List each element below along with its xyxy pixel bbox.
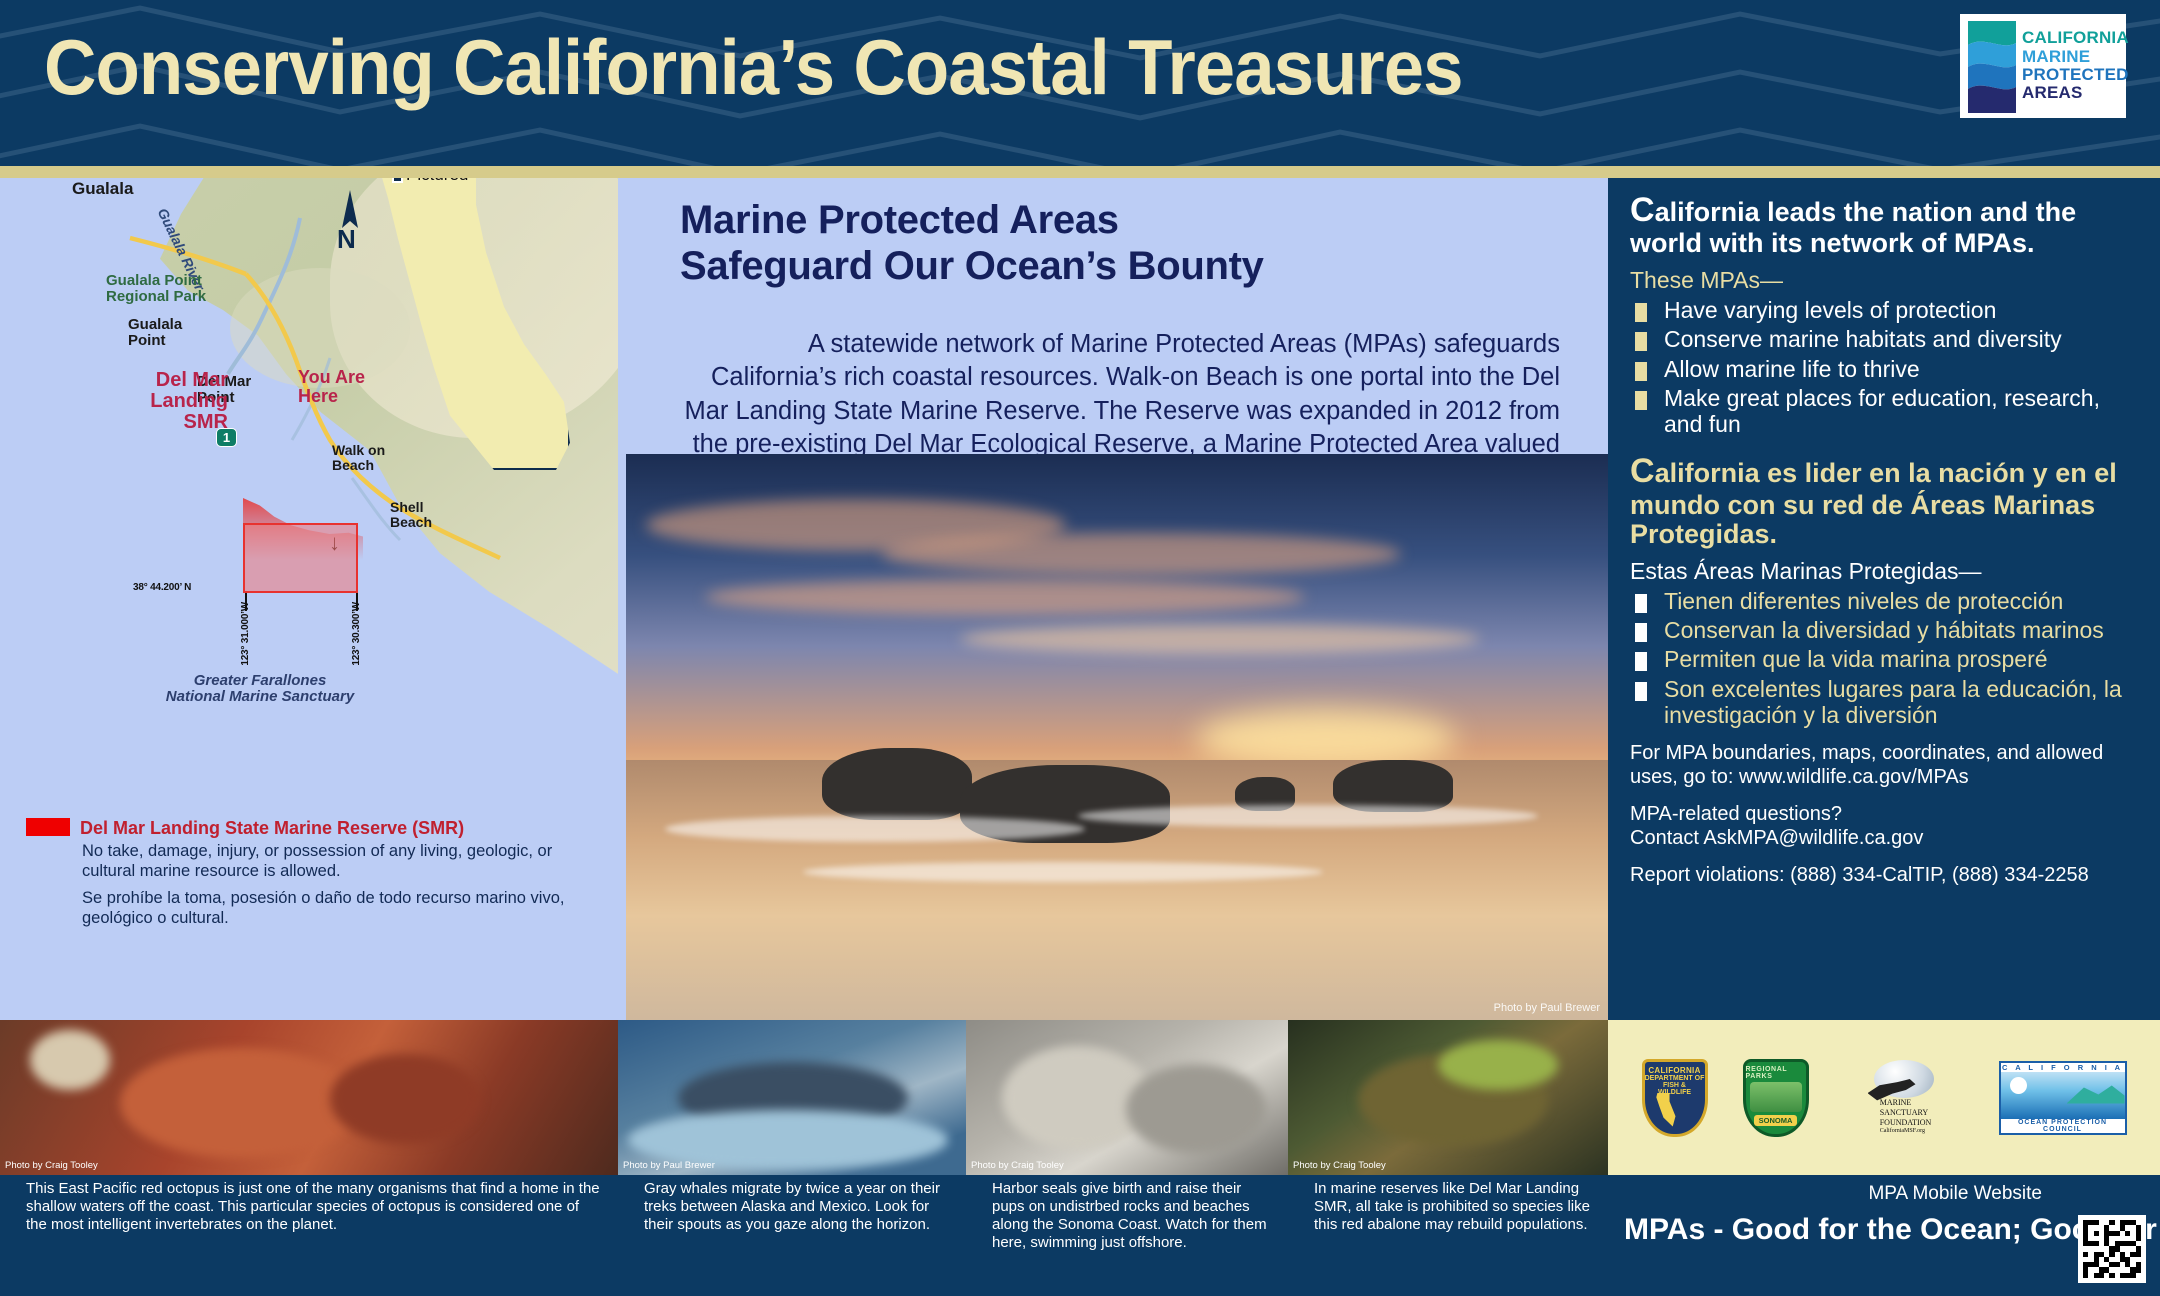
sidebar-heading-es-text: alifornia es lider en la nación y en el … xyxy=(1630,458,2117,549)
legend-title: Del Mar Landing State Marine Reserve (SM… xyxy=(80,818,464,838)
sonoma-line1: REGIONAL PARKS xyxy=(1746,1066,1806,1080)
coord-longitude-east: 123° 30.300’W xyxy=(351,602,362,666)
opc-seascape-icon xyxy=(2001,1072,2125,1119)
sonoma-landscape-icon xyxy=(1750,1082,1802,1112)
partner-logo-ocean-protection-council: C A L I F O R N I A OCEAN PROTECTION COU… xyxy=(1999,1061,2127,1135)
article-heading: Marine Protected Areas Safeguard Our Oce… xyxy=(680,198,1580,289)
msf-line2: MARINE SANCTUARY FOUNDATION xyxy=(1880,1098,1932,1128)
coord-latitude: 38° 44.200’ N xyxy=(133,582,191,593)
sidebar-bullets-english: Have varying levels of protection Conser… xyxy=(1630,297,2140,437)
sidebar-heading-en-dropcap: C xyxy=(1630,191,1655,229)
partner-logo-row: CALIFORNIA DEPARTMENT OF FISH & WILDLIFE… xyxy=(1608,1020,2160,1175)
cdfw-line2: DEPARTMENT OF xyxy=(1645,1075,1705,1082)
gold-divider-bar xyxy=(0,166,2160,178)
msf-line3: CaliforniaMSF.org xyxy=(1880,1128,1932,1136)
list-item: Conserve marine habitats and diversity xyxy=(1630,326,2140,352)
cdfw-line1: CALIFORNIA xyxy=(1648,1066,1700,1075)
list-item: Conservan la diversidad y hábitats marin… xyxy=(1630,617,2140,643)
map-label-you-are-here: You Are Here xyxy=(298,368,365,406)
sidebar-subheading-english: These MPAs— xyxy=(1630,267,2140,294)
area-pictured-label: Area Pictured xyxy=(406,178,468,184)
opc-line1: C A L I F O R N I A xyxy=(2001,1063,2125,1072)
opc-line2: OCEAN PROTECTION COUNCIL xyxy=(2001,1119,2125,1133)
caption-red-abalone: In marine reserves like Del Mar Landing … xyxy=(1288,1180,1608,1252)
caption-harbor-seals: Harbor seals give birth and raise their … xyxy=(966,1180,1288,1252)
sonoma-line2: SONOMA xyxy=(1754,1115,1798,1126)
caption-octopus: This East Pacific red octopus is just on… xyxy=(0,1180,618,1252)
california-inset-map: Area Pictured xyxy=(370,178,590,480)
thumb-credit: Photo by Paul Brewer xyxy=(623,1160,715,1171)
caption-row: This East Pacific red octopus is just on… xyxy=(0,1180,1608,1252)
map-label-gualala-point-regional-park: Gualala Point Regional Park xyxy=(106,273,206,305)
thumbnail-gray-whale: Photo by Paul Brewer xyxy=(618,1020,966,1175)
partner-logo-cdfw: CALIFORNIA DEPARTMENT OF FISH & WILDLIFE xyxy=(1642,1059,1708,1137)
list-item: Tienen diferentes niveles de protección xyxy=(1630,588,2140,614)
thumbnail-harbor-seals: Photo by Craig Tooley xyxy=(966,1020,1288,1175)
map-label-gualala: Gualala xyxy=(72,180,133,198)
content-region: 1 Gualala Gualala River Gualala Point Re… xyxy=(0,178,2160,1020)
logo-line-marine: MARINE xyxy=(2022,48,2129,66)
thumb-credit: Photo by Craig Tooley xyxy=(1293,1160,1386,1171)
list-item: Have varying levels of protection xyxy=(1630,297,2140,323)
compass-north-label: N xyxy=(337,224,356,255)
bottom-strip: Photo by Craig Tooley Photo by Paul Brew… xyxy=(0,1020,2160,1296)
list-item: Allow marine life to thrive xyxy=(1630,356,2140,382)
map-legend: Del Mar Landing State Marine Reserve (SM… xyxy=(26,818,586,929)
main-article: Marine Protected Areas Safeguard Our Oce… xyxy=(618,178,1608,1020)
footer-tagline-bar: MPA Mobile Website MPAs - Good for the O… xyxy=(1608,1175,2160,1296)
partner-logo-sonoma: REGIONAL PARKS SONOMA xyxy=(1743,1059,1809,1137)
thumbnail-octopus: Photo by Craig Tooley xyxy=(0,1020,618,1175)
sidebar-heading-spanish: California es lider en la nación y en el… xyxy=(1630,453,2140,550)
map-label-greater-farallones: Greater Farallones National Marine Sanct… xyxy=(150,673,370,705)
ca-mpa-logo: CALIFORNIA MARINE PROTECTED AREAS xyxy=(1960,14,2126,118)
partner-logo-marine-sanctuary-foundation: MARINE SANCTUARY FOUNDATION CaliforniaMS… xyxy=(1844,1060,1964,1136)
page-title: Conserving California’s Coastal Treasure… xyxy=(44,28,1463,106)
qr-code[interactable] xyxy=(2078,1215,2146,1283)
map-label-shell-beach: Shell Beach xyxy=(390,500,432,529)
mpa-facts-sidebar: California leads the nation and the worl… xyxy=(1608,178,2160,1020)
locator-map: 1 Gualala Gualala River Gualala Point Re… xyxy=(0,178,618,1020)
article-heading-line1: Marine Protected Areas xyxy=(680,198,1119,242)
header-banner: Conserving California’s Coastal Treasure… xyxy=(0,0,2160,166)
sidebar-heading-english: California leads the nation and the worl… xyxy=(1630,192,2140,259)
sunset-beach-photo: Photo by Paul Brewer xyxy=(626,454,1608,1020)
list-item: Make great places for education, researc… xyxy=(1630,385,2140,437)
sidebar-heading-en-text: alifornia leads the nation and the world… xyxy=(1630,197,2076,258)
smr-boundary-box xyxy=(243,523,358,593)
sidebar-note-questions: MPA-related questions? Contact AskMPA@wi… xyxy=(1630,802,2140,850)
sidebar-heading-es-dropcap: C xyxy=(1630,452,1655,490)
compass-rose-icon: N xyxy=(330,188,370,258)
sidebar-bullets-spanish: Tienen diferentes niveles de protección … xyxy=(1630,588,2140,728)
map-label-gualala-point: Gualala Point xyxy=(128,317,182,349)
sidebar-subheading-spanish: Estas Áreas Marinas Protegidas— xyxy=(1630,558,2140,585)
legend-color-swatch xyxy=(26,818,70,836)
sidebar-note-violations: Report violations: (888) 334-CalTIP, (88… xyxy=(1630,863,2140,887)
legend-rule-spanish: Se prohíbe la toma, posesión o daño de t… xyxy=(82,888,586,928)
coord-longitude-west: 123° 31.000’W xyxy=(240,602,251,666)
map-label-del-mar-landing-smr: Del Mar Landing SMR xyxy=(118,370,228,433)
logo-wave-icon xyxy=(1968,21,2016,113)
logo-line-california: CALIFORNIA xyxy=(2022,29,2129,47)
list-item: Son excelentes lugares para la educación… xyxy=(1630,676,2140,728)
list-item: Permiten que la vida marina prosperé xyxy=(1630,646,2140,672)
area-pictured-marker-icon xyxy=(392,178,403,183)
sidebar-note-boundaries: For MPA boundaries, maps, coordinates, a… xyxy=(1630,741,2140,789)
thumbnail-row: Photo by Craig Tooley Photo by Paul Brew… xyxy=(0,1020,1608,1175)
legend-rule-english: No take, damage, injury, or possession o… xyxy=(82,841,586,881)
logo-line-areas: AREAS xyxy=(2022,84,2129,102)
california-state-outline xyxy=(370,178,570,470)
mpa-mobile-website-label: MPA Mobile Website xyxy=(1868,1183,2042,1205)
logo-line-protected: PROTECTED xyxy=(2022,66,2129,84)
article-heading-line2: Safeguard Our Ocean’s Bounty xyxy=(680,244,1264,288)
california-bear-shape-icon xyxy=(1656,1093,1676,1127)
thumb-credit: Photo by Craig Tooley xyxy=(971,1160,1064,1171)
caption-gray-whale: Gray whales migrate by twice a year on t… xyxy=(618,1180,966,1252)
thumbnail-red-abalone: Photo by Craig Tooley xyxy=(1288,1020,1608,1175)
photo-credit: Photo by Paul Brewer xyxy=(1494,1002,1600,1014)
thumb-credit: Photo by Craig Tooley xyxy=(5,1160,98,1171)
poster: Conserving California’s Coastal Treasure… xyxy=(0,0,2160,1296)
